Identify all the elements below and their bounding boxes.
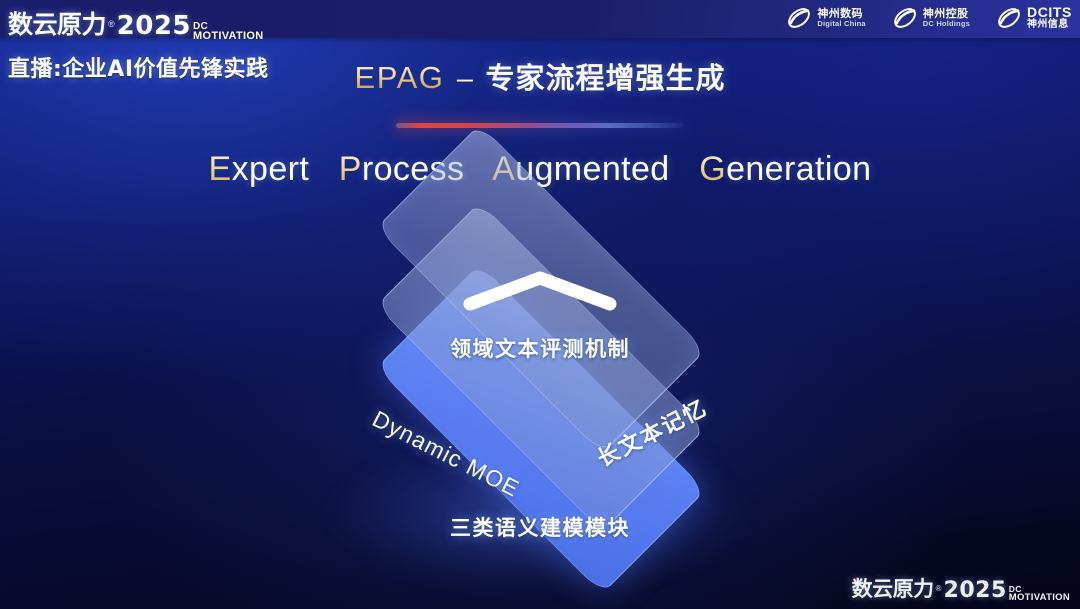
subhead-initial: A bbox=[492, 150, 515, 188]
partner-label: 神州数码 Digital China bbox=[817, 8, 865, 27]
slide-headline: EPAG – 专家流程增强生成 bbox=[0, 55, 1080, 97]
subhead-remainder: ugmented bbox=[515, 150, 669, 188]
brand-logo-dc-motivation: DC MOTIVATION bbox=[193, 22, 263, 41]
partner-name-en: DCITS bbox=[1027, 5, 1072, 20]
subhead-initial: E bbox=[209, 150, 232, 188]
subhead-space bbox=[679, 150, 689, 188]
swirl-icon bbox=[996, 5, 1022, 31]
subhead-remainder: xpert bbox=[232, 150, 310, 188]
partner-logo-group: 神州数码 Digital China 神州控股 DC Holdings bbox=[786, 5, 1072, 31]
gradient-divider bbox=[396, 123, 684, 128]
watermark-dc-motivation: DC MOTIVATION bbox=[1009, 586, 1070, 603]
diagram-label-long-text-memory: 长文本记忆 bbox=[591, 390, 712, 473]
partner-name-en: Digital China bbox=[817, 20, 865, 28]
diagram-label-dynamic-moe: Dynamic MOE bbox=[368, 405, 524, 502]
headline-acronym: EPAG bbox=[355, 60, 445, 95]
subhead-space bbox=[319, 150, 329, 188]
subhead-word-expert: Expert bbox=[209, 150, 310, 188]
slide-subhead: Expert Process Augmented Generation bbox=[0, 150, 1080, 189]
swirl-icon bbox=[786, 5, 812, 31]
watermark-motivation: MOTIVATION bbox=[1009, 594, 1070, 603]
diagram-layer-bottom bbox=[376, 264, 706, 594]
partner-label: DCITS 神州信息 bbox=[1027, 5, 1072, 30]
subhead-initial: P bbox=[339, 150, 362, 188]
partner-logo-dcits: DCITS 神州信息 bbox=[996, 5, 1072, 31]
diagram-layer-middle bbox=[376, 202, 706, 532]
subhead-word-process: Process bbox=[339, 150, 465, 188]
brand-logo-registered: ® bbox=[108, 19, 115, 29]
subhead-word-augmented: Augmented bbox=[492, 150, 670, 188]
bottom-layer-glow bbox=[330, 440, 750, 590]
partner-name-en: DC Holdings bbox=[923, 20, 970, 28]
subhead-space bbox=[474, 150, 484, 188]
watermark-cn: 数云原力 bbox=[852, 573, 934, 603]
brand-logo-year: 2025 bbox=[117, 11, 191, 41]
brand-logo: 数云原力 ® 2025 DC MOTIVATION bbox=[8, 5, 263, 41]
top-banner: 数云原力 ® 2025 DC MOTIVATION 神州数码 Digital C… bbox=[0, 0, 1080, 38]
watermark-registered: ® bbox=[936, 584, 942, 593]
partner-logo-dc-holdings: 神州控股 DC Holdings bbox=[892, 5, 970, 31]
swirl-icon bbox=[892, 5, 918, 31]
headline-dash: – bbox=[457, 63, 473, 95]
partner-label: 神州控股 DC Holdings bbox=[923, 8, 970, 27]
partner-logo-digital-china: 神州数码 Digital China bbox=[786, 5, 865, 31]
diagram-label-bottom: 三类语义建模模块 bbox=[0, 512, 1080, 542]
subhead-remainder: rocess bbox=[362, 150, 465, 188]
subhead-initial: G bbox=[699, 150, 726, 188]
watermark-year: 2025 bbox=[944, 578, 1007, 603]
footer-watermark-logo: 数云原力 ® 2025 DC MOTIVATION bbox=[852, 573, 1070, 603]
partner-name-cn: 神州信息 bbox=[1027, 20, 1072, 31]
brand-logo-motivation: MOTIVATION bbox=[193, 31, 263, 41]
subhead-word-generation: Generation bbox=[699, 150, 871, 188]
slide-canvas: 数云原力 ® 2025 DC MOTIVATION 神州数码 Digital C… bbox=[0, 0, 1080, 609]
diagram-label-top: 领域文本评测机制 bbox=[0, 333, 1080, 363]
chevron-up-icon bbox=[460, 268, 620, 312]
headline-chinese: 专家流程增强生成 bbox=[485, 61, 725, 95]
brand-logo-cn: 数云原力 bbox=[8, 5, 106, 41]
subhead-remainder: eneration bbox=[726, 150, 871, 188]
